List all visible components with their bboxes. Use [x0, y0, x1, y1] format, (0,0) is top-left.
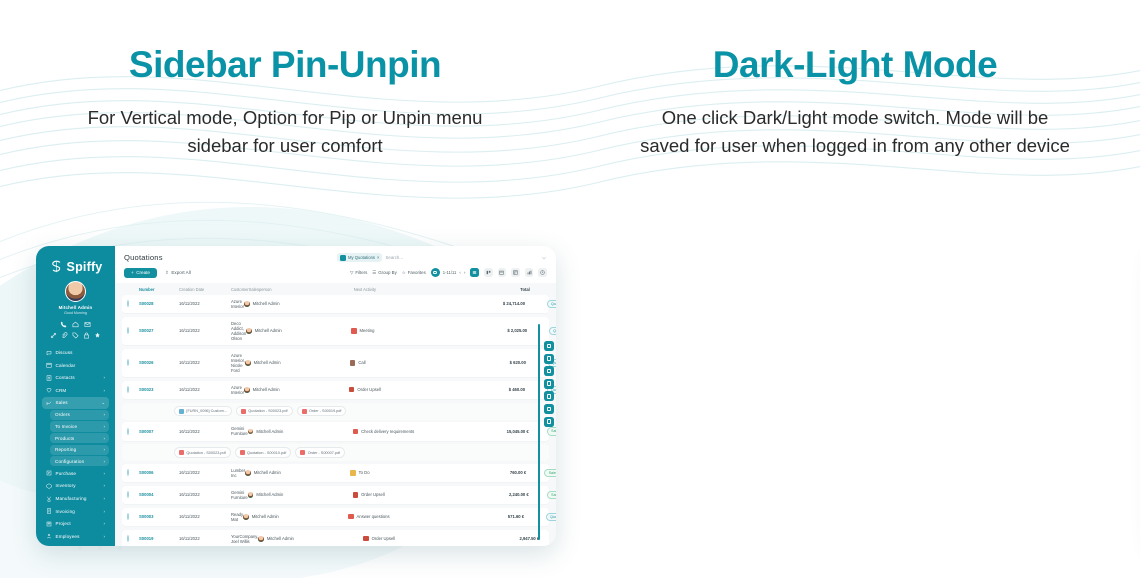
sales-icon — [46, 400, 52, 406]
cell-status: Quotation — [524, 513, 556, 521]
pin-icon[interactable] — [94, 332, 101, 339]
cell-creation-date: 16/11/2022 — [179, 301, 231, 306]
row-checkbox[interactable] — [127, 359, 129, 366]
column-header-number[interactable]: Number — [139, 287, 179, 292]
cell-total: 2,947.50 € — [475, 536, 539, 541]
next-activity-label: Answer questions — [357, 514, 390, 519]
graph-view-icon[interactable] — [525, 268, 534, 277]
cell-next-activity: Order Upsell — [353, 492, 465, 497]
row-checkbox-cell[interactable] — [127, 536, 139, 541]
cell-number[interactable]: S00027 — [139, 328, 179, 333]
plus-icon: + — [131, 270, 134, 275]
cell-total: $ 2,025.00 — [463, 328, 527, 333]
user-subtitle: Good Morning — [42, 311, 109, 315]
row-checkbox[interactable] — [127, 327, 129, 334]
sidebar-item-purchase[interactable]: Purchase› — [42, 468, 109, 479]
salesperson-name: Mitchell Admin — [255, 328, 282, 333]
cell-customer: Ready Mat — [231, 512, 243, 522]
cell-status: Sales Order — [529, 491, 556, 499]
chevron-right-icon: › — [104, 509, 105, 514]
chevron-right-icon: › — [104, 375, 105, 380]
salesperson-avatar — [245, 470, 251, 476]
table-row[interactable]: S0002316/11/2022Azure InteriorMitchell A… — [122, 381, 549, 400]
attachment-chip-label: Order - S00007.pdf — [308, 451, 341, 455]
cell-creation-date: 16/11/2022 — [179, 429, 231, 434]
table-body: S0002816/11/2022Azure InteriorMitchell A… — [122, 295, 549, 546]
purchase-icon — [46, 470, 52, 476]
cell-total: 571.60 € — [460, 514, 524, 519]
funnel-icon: ▽ — [350, 270, 353, 276]
spiffy-s-logo-icon — [49, 259, 64, 274]
sidebar-item-label: Configuration — [55, 459, 100, 464]
next-activity-label: Order Upsell — [372, 536, 396, 541]
cell-creation-date: 16/11/2022 — [179, 536, 231, 541]
cell-customer: Gemini Furniture — [231, 490, 248, 500]
table-row[interactable]: S0002616/11/2022Azure Interior, Nicole F… — [122, 349, 549, 378]
groupby-label: Group By — [378, 270, 397, 275]
column-header-next-activity[interactable]: Next Activity — [354, 287, 466, 292]
pivot-view-icon[interactable] — [511, 268, 520, 277]
export-icon: ⇪ — [165, 270, 169, 276]
salesperson-name: Mitchell Admin — [254, 470, 281, 475]
cell-total: 15,045.00 € — [465, 429, 529, 434]
pager-prev-button[interactable]: ‹ — [459, 270, 461, 275]
employees-icon — [46, 533, 52, 539]
pdf-file-icon — [302, 409, 307, 414]
cell-number[interactable]: S00019 — [139, 536, 179, 541]
quick-actions-row-1 — [42, 321, 109, 328]
cell-number[interactable]: S00006 — [139, 470, 179, 475]
row-checkbox[interactable] — [127, 513, 129, 520]
favorites-button[interactable]: ☆Favorites — [402, 270, 426, 276]
app-window-light: Spiffy Mitchell Admin Good Morning — [36, 246, 556, 546]
salesperson-avatar — [248, 429, 254, 435]
next-activity-label: Order Upsell — [361, 492, 385, 497]
cell-status: Sales Order — [526, 469, 556, 477]
salesperson-avatar — [245, 360, 251, 366]
note-strip-icon[interactable] — [544, 404, 554, 414]
pager[interactable]: 1-11/11 ‹ › — [431, 268, 466, 277]
status-badge: Quotation — [549, 327, 556, 335]
attachment-row: Quotation - S00023.pdfQuotation - S00010… — [122, 444, 549, 461]
cell-status: Quotation — [525, 300, 556, 308]
panel-subline: One click Dark/Light mode switch. Mode w… — [635, 104, 1075, 160]
row-checkbox-cell[interactable] — [127, 301, 139, 306]
sidebar-item-project[interactable]: Project› — [42, 518, 109, 529]
status-badge: Sales Order — [544, 469, 556, 477]
app-sidebar: Spiffy Mitchell Admin Good Morning — [36, 246, 115, 546]
sidebar-item-orders[interactable]: Orders› — [50, 410, 109, 420]
crm-icon — [46, 387, 52, 393]
sidebar-item-label: Calendar — [56, 363, 106, 368]
cell-salesperson: Mitchell Admin — [243, 514, 348, 520]
attachment-chip[interactable]: Quotation - S00010.pdf — [235, 447, 292, 457]
sidebar-item-label: Discuss — [56, 350, 106, 355]
cell-customer: Azure Interior — [231, 385, 244, 395]
next-activity-label: To Do — [359, 470, 370, 475]
pdf-file-icon — [241, 409, 246, 414]
sidebar-item-invoicing[interactable]: Invoicing› — [42, 506, 109, 517]
favorites-label: Favorites — [408, 270, 426, 275]
sidebar-item-configuration[interactable]: Configuration› — [50, 456, 109, 466]
sidebar-item-label: Orders — [55, 412, 100, 417]
none-icon — [349, 301, 354, 306]
status-badge: Sales Order — [547, 427, 556, 435]
salesperson-name: Mitchell Admin — [267, 536, 294, 541]
cell-salesperson: Mitchell Admin — [248, 429, 353, 435]
table-row[interactable]: S0002816/11/2022Azure InteriorMitchell A… — [122, 295, 549, 314]
image-file-icon — [179, 409, 184, 414]
meeting-icon — [351, 328, 356, 333]
sidebar-item-sales[interactable]: Sales⌄ — [42, 397, 109, 408]
attachment-chip[interactable]: Order - S00007.pdf — [295, 447, 345, 457]
sidebar-item-employees[interactable]: Employees› — [42, 531, 109, 542]
row-checkbox[interactable] — [127, 428, 129, 435]
chevron-right-icon: › — [104, 471, 105, 476]
row-checkbox-cell[interactable] — [127, 492, 139, 497]
pager-text: 1-11/11 — [443, 270, 457, 275]
activity-view-icon[interactable] — [538, 268, 547, 277]
cell-next-activity: Answer questions — [348, 514, 460, 519]
row-checkbox-cell[interactable] — [127, 387, 139, 392]
grid-strip-icon[interactable] — [544, 366, 554, 376]
close-icon[interactable]: × — [377, 255, 379, 260]
record-indicator-icon — [431, 268, 440, 277]
side-toolbar — [544, 341, 554, 427]
create-button-label: Create — [136, 270, 150, 275]
sidebar-item-label: Inventory — [56, 483, 101, 488]
pdf-file-icon — [300, 450, 305, 455]
search-input[interactable]: Search... — [385, 255, 538, 260]
chevron-right-icon: › — [104, 534, 105, 539]
cell-next-activity: Call — [350, 360, 462, 365]
cell-total: $ 460.00 — [461, 387, 525, 392]
app-topbar: Quotations My Quotations × Search... — [115, 246, 556, 283]
cell-creation-date: 16/11/2022 — [179, 492, 231, 497]
sidebar-item-label: Reporting — [55, 447, 100, 452]
pager-next-button[interactable]: › — [464, 270, 466, 275]
salesperson-avatar — [243, 514, 249, 520]
table-row[interactable]: S0001916/11/2022YourCompany, Joel Willis… — [122, 530, 549, 546]
export-button-label: Export All — [171, 270, 190, 275]
sidebar-item-recruitment[interactable]: Recruitment› — [42, 543, 109, 546]
salesperson-name: Mitchell Admin — [256, 492, 283, 497]
column-header-creation-date[interactable]: Creation Date — [179, 287, 231, 292]
star-icon: ☆ — [402, 270, 406, 276]
column-header-status[interactable]: Status — [530, 287, 556, 292]
chevron-right-icon: › — [104, 412, 105, 417]
sidebar-item-to-invoice[interactable]: To Invoice› — [50, 421, 109, 431]
attachment-chip[interactable]: [FURN_0096] Custom... — [174, 406, 232, 416]
calendar-view-icon[interactable] — [498, 268, 507, 277]
call-icon[interactable] — [60, 321, 67, 328]
cell-number[interactable]: S00023 — [139, 387, 179, 392]
search-bar[interactable]: My Quotations × Search... — [337, 253, 547, 262]
sidebar-item-label: Contacts — [56, 375, 101, 380]
panel-dark-light: Dark-Light Mode One click Dark/Light mod… — [570, 0, 1140, 578]
sidebar-item-label: Products — [55, 436, 100, 441]
next-activity-label: Meeting — [360, 328, 375, 333]
search-facet-label: My Quotations — [348, 255, 375, 260]
pdf-file-icon — [240, 450, 245, 455]
attachment-chip[interactable]: Quotation - S00023.pdf — [236, 406, 293, 416]
table-row[interactable]: S0000416/11/2022Gemini FurnitureMitchell… — [122, 486, 549, 505]
upsell-icon — [363, 536, 368, 541]
column-header-customer[interactable]: Customer — [231, 287, 249, 292]
row-checkbox[interactable] — [127, 535, 129, 542]
chevron-right-icon: › — [104, 483, 105, 488]
check-icon — [353, 429, 358, 434]
cell-status: Quotation — [527, 327, 556, 335]
salesperson-name: Mitchell Admin — [254, 360, 281, 365]
brand[interactable]: Spiffy — [42, 259, 109, 274]
mail-icon[interactable] — [84, 321, 91, 328]
avatar[interactable] — [65, 281, 86, 302]
cell-salesperson: Mitchell Admin — [248, 492, 353, 498]
cell-total: 760.00 € — [462, 470, 526, 475]
chevron-right-icon: › — [104, 459, 105, 464]
attachment-chip-label: Quotation - S00023.pdf — [186, 451, 225, 455]
cell-creation-date: 16/11/2022 — [179, 470, 231, 475]
chevron-down-icon[interactable] — [541, 255, 547, 261]
inventory-icon — [46, 483, 52, 489]
sidebar-item-reporting[interactable]: Reporting› — [50, 445, 109, 455]
cell-next-activity: Check delivery requirements — [353, 429, 465, 434]
cell-status: Sales Order — [539, 535, 556, 543]
call-icon — [350, 360, 355, 365]
quick-actions-row-2 — [42, 332, 109, 339]
status-badge: Quotation — [547, 300, 556, 308]
attachment-chip-label: [FURN_0096] Custom... — [186, 409, 227, 413]
manufacturing-icon — [46, 496, 52, 502]
list-view-icon[interactable] — [470, 268, 479, 277]
cell-salesperson: Mitchell Admin — [244, 301, 349, 307]
attachment-chip-label: Quotation - S00023.pdf — [248, 409, 287, 413]
link-icon[interactable] — [50, 332, 57, 339]
chat-icon — [46, 350, 52, 356]
sidebar-item-label: Purchase — [56, 471, 101, 476]
contacts-icon — [46, 375, 52, 381]
row-checkbox[interactable] — [127, 386, 129, 393]
attachment-chip[interactable]: Quotation - S00023.pdf — [174, 447, 231, 457]
export-all-button[interactable]: ⇪Export All — [161, 267, 195, 278]
app-content: Quotations My Quotations × Search... — [115, 246, 556, 546]
chevron-right-icon: › — [104, 447, 105, 452]
filter-icon — [340, 255, 346, 261]
invoicing-icon — [46, 508, 52, 514]
cell-customer: Lumber Inc — [231, 468, 245, 478]
cell-number[interactable]: S00004 — [139, 492, 179, 497]
brand-name: Spiffy — [67, 260, 103, 274]
row-checkbox-cell[interactable] — [127, 360, 139, 365]
chevron-right-icon: › — [104, 388, 105, 393]
cell-next-activity: Order Upsell — [349, 387, 461, 392]
cell-salesperson: Mitchell Admin — [246, 328, 351, 334]
cell-customer: Azure Interior — [231, 299, 244, 309]
pdf-file-icon — [179, 450, 184, 455]
row-checkbox[interactable] — [127, 469, 129, 476]
group-icon: ☰ — [372, 270, 376, 276]
sidebar-item-label: Invoicing — [56, 509, 101, 514]
table-row[interactable]: S0002716/11/2022Deco Addict, Addison Ols… — [122, 317, 549, 346]
groupby-button[interactable]: ☰Group By — [372, 270, 396, 276]
cell-next-activity — [349, 301, 461, 306]
attachment-row: [FURN_0096] Custom...Quotation - S00023.… — [122, 403, 549, 420]
column-header-total[interactable]: Total — [466, 287, 530, 292]
salesperson-avatar — [246, 328, 252, 334]
cell-salesperson: Mitchell Admin — [245, 360, 350, 366]
cell-status: Sales Order — [529, 427, 556, 435]
kanban-view-icon[interactable] — [484, 268, 493, 277]
row-checkbox-cell[interactable] — [127, 514, 139, 519]
quotations-table: Number Creation Date Customer Salesperso… — [115, 283, 556, 546]
project-icon — [46, 521, 52, 527]
upsell-icon — [349, 387, 354, 392]
sidebar-item-discuss[interactable]: Discuss — [42, 347, 109, 358]
status-badge: Sales Order — [547, 491, 556, 499]
salesperson-avatar — [248, 492, 254, 498]
panel-headline: Sidebar Pin-Unpin — [0, 44, 570, 86]
row-checkbox-cell[interactable] — [127, 328, 139, 333]
cell-number[interactable]: S00007 — [139, 429, 179, 434]
cell-next-activity: To Do — [350, 470, 462, 475]
cell-salesperson: Mitchell Admin — [244, 387, 349, 393]
cell-number[interactable]: S00003 — [139, 514, 179, 519]
cell-creation-date: 16/11/2022 — [179, 328, 231, 333]
todo-icon — [350, 470, 355, 475]
calendar-icon — [46, 362, 52, 368]
cell-total: $ 620.00 — [462, 360, 526, 365]
cell-customer: Deco Addict, Addison Olson — [231, 321, 246, 341]
chevron-down-icon: ⌄ — [101, 400, 105, 406]
row-checkbox-cell[interactable] — [127, 470, 139, 475]
search-strip-icon[interactable] — [544, 354, 554, 364]
sidebar-item-calendar[interactable]: Calendar — [42, 360, 109, 371]
calendar-strip-icon[interactable] — [544, 391, 554, 401]
create-button[interactable]: +Create — [124, 268, 157, 278]
cell-total: $ 24,714.00 — [461, 301, 525, 306]
cell-total: 2,240.00 € — [465, 492, 529, 497]
next-activity-label: Check delivery requirements — [361, 429, 414, 434]
lock-icon[interactable] — [83, 332, 90, 339]
sidebar-item-label: To Invoice — [55, 424, 100, 429]
tag-icon[interactable] — [72, 332, 79, 339]
attachment-chip-label: Quotation - S00010.pdf — [247, 451, 286, 455]
salesperson-name: Mitchell Admin — [256, 429, 283, 434]
next-activity-label: Order Upsell — [357, 387, 381, 392]
upsell-icon — [353, 492, 358, 497]
status-badge: Quotation — [546, 513, 556, 521]
table-row[interactable]: S0000616/11/2022Lumber IncMitchell Admin… — [122, 464, 549, 483]
chevron-right-icon: › — [104, 424, 105, 429]
salesperson-name: Mitchell Admin — [253, 387, 280, 392]
salesperson-avatar — [244, 301, 250, 307]
home-icon[interactable] — [72, 321, 79, 328]
cell-next-activity: Meeting — [351, 328, 463, 333]
next-activity-label: Call — [358, 360, 365, 365]
table-row[interactable]: S0000716/11/2022Gemini FurnitureMitchell… — [122, 422, 549, 441]
cell-salesperson: Mitchell Admin — [245, 470, 350, 476]
panel-headline: Dark-Light Mode — [570, 44, 1140, 86]
sidebar-item-inventory[interactable]: Inventory› — [42, 480, 109, 491]
settings-strip-icon[interactable] — [544, 341, 554, 351]
salesperson-name: Mitchell Admin — [252, 514, 279, 519]
chevron-right-icon: › — [104, 496, 105, 501]
answer-icon — [348, 514, 353, 519]
print-strip-icon[interactable] — [544, 379, 554, 389]
salesperson-avatar — [244, 387, 250, 393]
cell-number[interactable]: S00026 — [139, 360, 179, 365]
filters-label: Filters — [355, 270, 367, 275]
attachment-icon[interactable] — [61, 332, 68, 339]
sidebar-item-label: Manufacturing — [56, 496, 101, 501]
cell-customer: Azure Interior, Nicole Ford — [231, 353, 245, 373]
row-checkbox-cell[interactable] — [127, 429, 139, 434]
scroll-rail[interactable] — [538, 324, 540, 540]
column-header-salesperson[interactable]: Salesperson — [249, 287, 354, 292]
panels-container: Sidebar Pin-Unpin For Vertical mode, Opt… — [0, 0, 1140, 578]
cell-next-activity: Order Upsell — [363, 536, 475, 541]
sidebar-item-label: Employees — [56, 534, 101, 539]
sidebar-menu: Discuss Calendar Contacts› CRM› Sales⌄ O… — [42, 347, 109, 546]
user-name: Mitchell Admin — [42, 305, 109, 310]
cell-number[interactable]: S00028 — [139, 301, 179, 306]
expand-strip-icon[interactable] — [544, 417, 554, 427]
sidebar-item-label: Project — [56, 521, 101, 526]
sidebar-item-contacts[interactable]: Contacts› — [42, 372, 109, 383]
search-facet[interactable]: My Quotations × — [337, 253, 382, 262]
row-checkbox[interactable] — [127, 491, 129, 498]
sidebar-item-label: Sales — [56, 400, 98, 405]
sidebar-item-crm[interactable]: CRM› — [42, 385, 109, 396]
table-row[interactable]: S0000316/11/2022Ready MatMitchell AdminA… — [122, 508, 549, 527]
panel-pin-unpin: Sidebar Pin-Unpin For Vertical mode, Opt… — [0, 0, 570, 578]
row-checkbox[interactable] — [127, 300, 129, 307]
cell-creation-date: 16/11/2022 — [179, 360, 231, 365]
salesperson-avatar — [258, 536, 264, 542]
cell-customer: YourCompany, Joel Willis — [231, 534, 258, 544]
page-title: Quotations — [124, 253, 163, 262]
sidebar-item-manufacturing[interactable]: Manufacturing› — [42, 493, 109, 504]
cell-customer: Gemini Furniture — [231, 426, 248, 436]
chevron-right-icon: › — [104, 521, 105, 526]
sidebar-item-label: CRM — [56, 388, 101, 393]
cell-creation-date: 16/11/2022 — [179, 514, 231, 519]
sidebar-item-products[interactable]: Products› — [50, 433, 109, 443]
table-header-row: Number Creation Date Customer Salesperso… — [122, 283, 549, 295]
filters-button[interactable]: ▽Filters — [350, 270, 367, 276]
cell-salesperson: Mitchell Admin — [258, 536, 363, 542]
attachment-chip-label: Order - S00019.pdf — [309, 409, 342, 413]
cell-creation-date: 16/11/2022 — [179, 387, 231, 392]
panel-subline: For Vertical mode, Option for Pip or Unp… — [65, 104, 505, 160]
chevron-right-icon: › — [104, 436, 105, 441]
attachment-chip[interactable]: Order - S00019.pdf — [297, 406, 347, 416]
salesperson-name: Mitchell Admin — [253, 301, 280, 306]
